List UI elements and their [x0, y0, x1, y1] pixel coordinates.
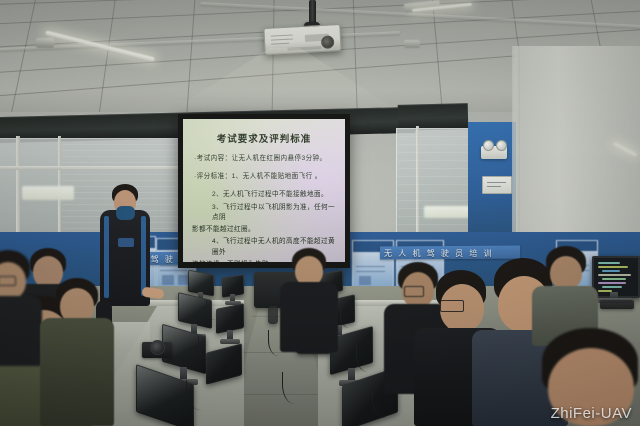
jacket-stripe [141, 216, 146, 296]
jacket-logo [118, 238, 134, 247]
glasses [404, 286, 424, 297]
slide-line: 2、无人机飞行过程中不能接触地面。 [212, 190, 336, 200]
slide-line: ·考试内容：让无人机在红圈内悬停3分钟。 [194, 154, 336, 164]
slide-line: 影都不能越过红圈。 [192, 225, 336, 235]
wall-banner-right-text: 无 人 机 驾 驶 员 培 训 [384, 248, 494, 259]
chair-icon [268, 306, 278, 324]
classroom-photo: 无 人 机 驾 驶 员 培 训 无 人 机 驾 驶 员 培 训 考试要求及评判标… [0, 0, 640, 426]
wall-column-edge [512, 46, 520, 246]
window-mullion [16, 136, 20, 240]
projection-screen: 考试要求及评判标准 ·考试内容：让无人机在红圈内悬停3分钟。 ·评分标准：1、无… [183, 119, 345, 262]
projector-icon [263, 24, 341, 55]
emergency-light-icon [483, 140, 494, 151]
glasses [440, 300, 464, 312]
monitor-screen [594, 258, 638, 296]
clerestory-band [398, 103, 469, 131]
fluorescent-light-icon [36, 38, 54, 48]
wall-sign [482, 176, 512, 194]
collar [116, 206, 135, 220]
slide-body: ·考试内容：让无人机在红圈内悬停3分钟。 ·评分标准：1、无人机不能贴地面飞行 … [192, 154, 336, 262]
head [550, 256, 582, 290]
emergency-light-icon [496, 140, 507, 151]
slide-line: ·评分标准：1、无人机不能贴地面飞行 。 [194, 172, 336, 182]
slide-content: 考试要求及评判标准 ·考试内容：让无人机在红圈内悬停3分钟。 ·评分标准：1、无… [183, 119, 345, 262]
slide-title: 考试要求及评判标准 [192, 131, 336, 145]
watermark: ZhiFei-UAV [551, 405, 632, 422]
glasses [0, 276, 16, 286]
torso [0, 296, 42, 366]
keyboard [600, 300, 634, 309]
torso [40, 318, 114, 426]
fluorescent-light-icon [404, 40, 420, 48]
jacket-stripe [104, 216, 109, 298]
slide-line: 3、飞行过程中以飞机阴影为准，任何一点阴 [212, 203, 336, 223]
torso [280, 282, 338, 352]
camera-icon [150, 340, 165, 355]
